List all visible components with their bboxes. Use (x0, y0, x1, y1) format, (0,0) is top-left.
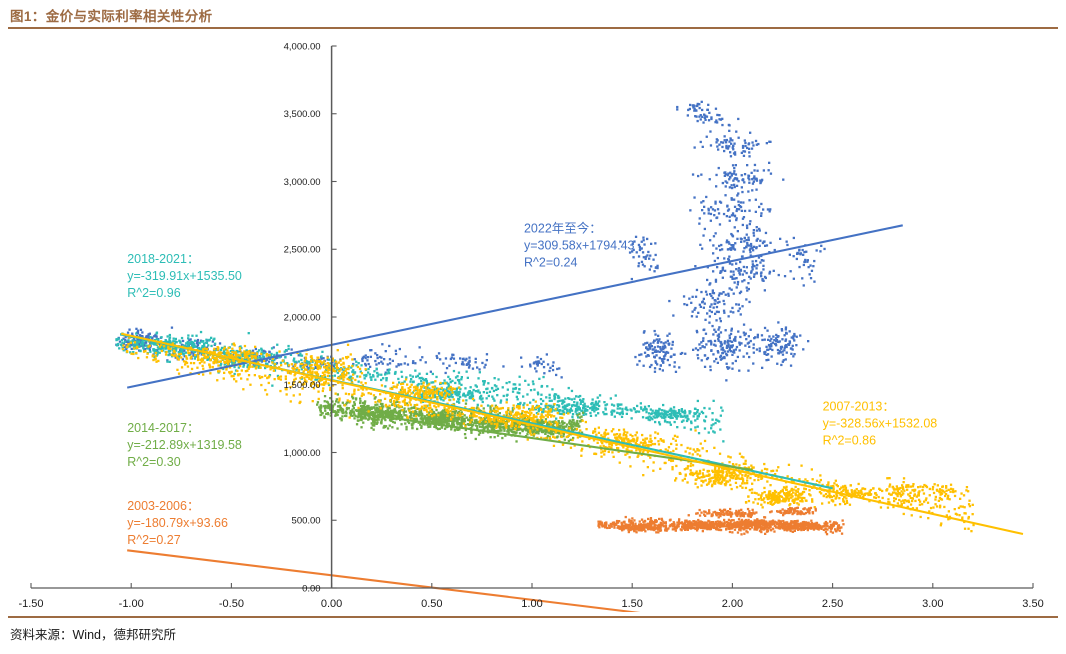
scatter-point (724, 270, 726, 272)
scatter-point (782, 354, 784, 356)
scatter-point (777, 321, 779, 323)
scatter-point (697, 357, 699, 359)
scatter-point (816, 249, 818, 251)
scatter-point (666, 421, 668, 423)
scatter-point (324, 395, 326, 397)
scatter-point (703, 212, 705, 214)
scatter-point (353, 417, 355, 419)
scatter-point (768, 141, 770, 143)
scatter-point (119, 341, 121, 343)
scatter-point (657, 410, 659, 412)
scatter-point (770, 343, 772, 345)
scatter-point (429, 403, 431, 405)
scatter-point (479, 371, 481, 373)
scatter-point (376, 409, 378, 411)
scatter-point (621, 412, 623, 414)
scatter-point (661, 412, 663, 414)
scatter-point (790, 270, 792, 272)
scatter-point (729, 346, 731, 348)
scatter-point (768, 344, 770, 346)
scatter-point (704, 319, 706, 321)
scatter-point (396, 427, 398, 429)
scatter-point (438, 417, 440, 419)
scatter-point (326, 401, 328, 403)
scatter-point (652, 352, 654, 354)
scatter-point (450, 428, 452, 430)
scatter-point (155, 352, 157, 354)
scatter-point (732, 148, 734, 150)
scatter-point (964, 506, 966, 508)
scatter-point (733, 167, 735, 169)
scatter-point (370, 349, 372, 351)
scatter-point (458, 372, 460, 374)
scatter-point (690, 422, 692, 424)
scatter-point (506, 399, 508, 401)
scatter-point (719, 272, 721, 274)
scatter-point (657, 415, 659, 417)
scatter-point (748, 301, 750, 303)
scatter-point (642, 251, 644, 253)
scatter-point (389, 425, 391, 427)
scatter-point (365, 354, 367, 356)
scatter-point (766, 142, 768, 144)
scatter-point (647, 466, 649, 468)
scatter-point (747, 370, 749, 372)
scatter-point (483, 391, 485, 393)
scatter-point (299, 393, 301, 395)
scatter-point (600, 456, 602, 458)
scatter-point (405, 410, 407, 412)
scatter-point (633, 407, 635, 409)
scatter-point (730, 333, 732, 335)
scatter-point (293, 358, 295, 360)
scatter-point (807, 259, 809, 261)
scatter-point (713, 292, 715, 294)
scatter-point (682, 411, 684, 413)
scatter-point (544, 430, 546, 432)
scatter-point (793, 278, 795, 280)
scatter-point (199, 342, 201, 344)
scatter-point (521, 366, 523, 368)
scatter-point (743, 247, 745, 249)
scatter-point (337, 393, 339, 395)
scatter-point (576, 409, 578, 411)
scatter-point (782, 361, 784, 363)
scatter-point (676, 426, 678, 428)
scatter-point (650, 265, 652, 267)
scatter-point (927, 502, 929, 504)
scatter-point (770, 173, 772, 175)
scatter-point (571, 416, 573, 418)
scatter-point (727, 210, 729, 212)
scatter-point (706, 109, 708, 111)
scatter-point (740, 313, 742, 315)
scatter-point (730, 249, 732, 251)
scatter-point (253, 365, 255, 367)
scatter-point (547, 363, 549, 365)
scatter-point (618, 404, 620, 406)
scatter-point (507, 389, 509, 391)
scatter-point (657, 335, 659, 337)
scatter-point (394, 415, 396, 417)
scatter-point (409, 374, 411, 376)
scatter-point (202, 340, 204, 342)
scatter-point (743, 216, 745, 218)
scatter-point (701, 301, 703, 303)
scatter-point (751, 141, 753, 143)
scatter-point (377, 357, 379, 359)
scatter-point (175, 349, 177, 351)
scatter-point (648, 345, 650, 347)
scatter-point (737, 270, 739, 272)
scatter-point (118, 347, 120, 349)
scatter-point (710, 427, 712, 429)
scatter-point (361, 409, 363, 411)
scatter-point (720, 341, 722, 343)
scatter-point (729, 337, 731, 339)
scatter-point (403, 407, 405, 409)
scatter-point (743, 279, 745, 281)
scatter-point (375, 363, 377, 365)
scatter-point (705, 291, 707, 293)
scatter-point (548, 370, 550, 372)
scatter-point (543, 366, 545, 368)
scatter-point (790, 365, 792, 367)
scatter-point (273, 370, 275, 372)
scatter-point (448, 365, 450, 367)
scatter-point (742, 178, 744, 180)
scatter-point (471, 395, 473, 397)
scatter-point (706, 136, 708, 138)
scatter-point (364, 377, 366, 379)
scatter-point (324, 400, 326, 402)
scatter-point (383, 411, 385, 413)
scatter-point (328, 359, 330, 361)
scatter-point (768, 169, 770, 171)
scatter-point (458, 423, 460, 425)
scatter-point (614, 416, 616, 418)
scatter-point (423, 418, 425, 420)
scatter-point (648, 412, 650, 414)
scatter-point (571, 421, 573, 423)
scatter-point (239, 365, 241, 367)
scatter-point (387, 370, 389, 372)
scatter-point (734, 242, 736, 244)
scatter-point (494, 384, 496, 386)
scatter-point (689, 411, 691, 413)
scatter-point (655, 362, 657, 364)
scatter-point (541, 386, 543, 388)
scatter-point (734, 186, 736, 188)
scatter-point (724, 135, 726, 137)
scatter-point (532, 399, 534, 401)
scatter-point (649, 255, 651, 257)
scatter-point (353, 401, 355, 403)
scatter-point (739, 307, 741, 309)
scatter-point (781, 328, 783, 330)
scatter-point (191, 368, 193, 370)
scatter-point (735, 173, 737, 175)
scatter-point (542, 376, 544, 378)
scatter-point (763, 241, 765, 243)
scatter-point (385, 350, 387, 352)
scatter-point (205, 342, 207, 344)
scatter-point (755, 272, 757, 274)
scatter-point (405, 428, 407, 430)
scatter-point (673, 410, 675, 412)
scatter-point (747, 175, 749, 177)
scatter-point (698, 343, 700, 345)
scatter-point (451, 408, 453, 410)
scatter-point (500, 399, 502, 401)
scatter-point (260, 348, 262, 350)
scatter-point (400, 423, 402, 425)
scatter-point (286, 393, 288, 395)
scatter-point (370, 427, 372, 429)
scatter-point (759, 245, 761, 247)
scatter-point (477, 404, 479, 406)
scatter-point (576, 403, 578, 405)
scatter-point (743, 266, 745, 268)
scatter-point (649, 419, 651, 421)
scatter-point (920, 516, 922, 518)
scatter-point (552, 406, 554, 408)
scatter-point (725, 180, 727, 182)
scatter-point (416, 413, 418, 415)
scatter-point (533, 433, 535, 435)
scatter-point (342, 402, 344, 404)
scatter-point (501, 426, 503, 428)
scatter-point (733, 173, 735, 175)
scatter-point (739, 336, 741, 338)
scatter-point (674, 479, 676, 481)
scatter-point (744, 270, 746, 272)
scatter-point (718, 144, 720, 146)
scatter-point (567, 410, 569, 412)
scatter-point (444, 413, 446, 415)
scatter-point (747, 237, 749, 239)
scatter-point (728, 248, 730, 250)
scatter-point (156, 332, 158, 334)
scatter-point (485, 421, 487, 423)
scatter-point (719, 453, 721, 455)
scatter-point (708, 119, 710, 121)
scatter-point (370, 376, 372, 378)
scatter-point (761, 334, 763, 336)
scatter-point (360, 416, 362, 418)
scatter-point (747, 190, 749, 192)
scatter-point (744, 334, 746, 336)
scatter-point (579, 416, 581, 418)
scatter-point (595, 407, 597, 409)
scatter-point (710, 206, 712, 208)
scatter-point (728, 256, 730, 258)
scatter-point (404, 362, 406, 364)
scatter-point (704, 117, 706, 119)
scatter-point (148, 333, 150, 335)
scatter-point (916, 507, 918, 509)
scatter-point (558, 425, 560, 427)
scatter-point (656, 267, 658, 269)
scatter-point (418, 383, 420, 385)
scatter-point (220, 349, 222, 351)
scatter-point (530, 389, 532, 391)
scatter-point (152, 354, 154, 356)
scatter-point (578, 396, 580, 398)
scatter-point (376, 421, 378, 423)
scatter-point (570, 439, 572, 441)
scatter-point (479, 397, 481, 399)
scatter-point (490, 423, 492, 425)
scatter-point (526, 393, 528, 395)
scatter-point (750, 245, 752, 247)
scatter-point (318, 398, 320, 400)
scatter-point (475, 384, 477, 386)
scatter-point (487, 404, 489, 406)
scatter-point (597, 403, 599, 405)
scatter-point (137, 357, 139, 359)
scatter-point (638, 262, 640, 264)
scatter-point (132, 353, 134, 355)
scatter-point (746, 227, 748, 229)
scatter-point (748, 182, 750, 184)
scatter-point (610, 397, 612, 399)
scatter-point (384, 419, 386, 421)
scatter-point (713, 447, 715, 449)
scatter-point (499, 412, 501, 414)
scatter-point (746, 234, 748, 236)
scatter-point (442, 382, 444, 384)
scatter-point (670, 424, 672, 426)
scatter-point (576, 428, 578, 430)
scatter-point (626, 413, 628, 415)
scatter-point (566, 423, 568, 425)
scatter-point (659, 346, 661, 348)
scatter-point (458, 402, 460, 404)
scatter-point (249, 384, 251, 386)
scatter-point (764, 289, 766, 291)
scatter-point (936, 505, 938, 507)
scatter-point (643, 239, 645, 241)
scatter-point (344, 415, 346, 417)
scatter-point (750, 270, 752, 272)
scatter-point (395, 350, 397, 352)
scatter-point (657, 345, 659, 347)
scatter-point (725, 141, 727, 143)
scatter-point (736, 238, 738, 240)
scatter-point (381, 403, 383, 405)
scatter-point (694, 426, 696, 428)
scatter-point (710, 341, 712, 343)
scatter-point (765, 346, 767, 348)
scatter-point (562, 406, 564, 408)
scatter-point (730, 350, 732, 352)
scatter-point (579, 420, 581, 422)
scatter-point (624, 408, 626, 410)
scatter-point (712, 244, 714, 246)
scatter-point (440, 398, 442, 400)
scatter-point (735, 268, 737, 270)
scatter-point (454, 428, 456, 430)
scatter-point (654, 431, 656, 433)
scatter-point (585, 421, 587, 423)
scatter-point (835, 480, 837, 482)
scatter-point (418, 373, 420, 375)
scatter-point (689, 104, 691, 106)
scatter-point (680, 444, 682, 446)
scatter-point (575, 395, 577, 397)
scatter-point (722, 440, 724, 442)
scatter-point (764, 339, 766, 341)
scatter-point (739, 453, 741, 455)
scatter-point (419, 414, 421, 416)
scatter-point (456, 394, 458, 396)
scatter-point (464, 359, 466, 361)
scatter-point (718, 326, 720, 328)
scatter-point (658, 443, 660, 445)
scatter-point (196, 342, 198, 344)
scatter-point (669, 364, 671, 366)
scatter-point (802, 249, 804, 251)
scatter-point (362, 422, 364, 424)
scatter-point (563, 401, 565, 403)
scatter-point (435, 409, 437, 411)
scatter-point (389, 400, 391, 402)
scatter-point (137, 330, 139, 332)
scatter-point (712, 289, 714, 291)
scatter-point (708, 431, 710, 433)
scatter-point (562, 422, 564, 424)
scatter-point (725, 379, 727, 381)
scatter-point (571, 398, 573, 400)
scatter-point (561, 410, 563, 412)
scatter-point (156, 338, 158, 340)
scatter-point (130, 342, 132, 344)
scatter-point (734, 206, 736, 208)
scatter-point (583, 414, 585, 416)
scatter-point (461, 376, 463, 378)
scatter-point (489, 407, 491, 409)
scatter-point (739, 273, 741, 275)
scatter-point (542, 361, 544, 363)
scatter-point (592, 398, 594, 400)
scatter-point (671, 466, 673, 468)
scatter-point (376, 368, 378, 370)
scatter-point (582, 404, 584, 406)
scatter-point (748, 178, 750, 180)
scatter-point (760, 215, 762, 217)
scatter-point (735, 131, 737, 133)
scatter-point (762, 260, 764, 262)
scatter-point (930, 507, 932, 509)
scatter-point (502, 386, 504, 388)
scatter-point (672, 314, 674, 316)
scatter-point (798, 249, 800, 251)
scatter-point (357, 416, 359, 418)
scatter-point (126, 350, 128, 352)
scatter-point (209, 372, 211, 374)
scatter-point (670, 348, 672, 350)
scatter-point (724, 171, 726, 173)
scatter-point (738, 204, 740, 206)
scatter-point (717, 139, 719, 141)
scatter-point (751, 483, 753, 485)
scatter-point (638, 411, 640, 413)
scatter-point (541, 419, 543, 421)
scatter-point (549, 394, 551, 396)
scatter-point (312, 400, 314, 402)
scatter-point (729, 220, 731, 222)
